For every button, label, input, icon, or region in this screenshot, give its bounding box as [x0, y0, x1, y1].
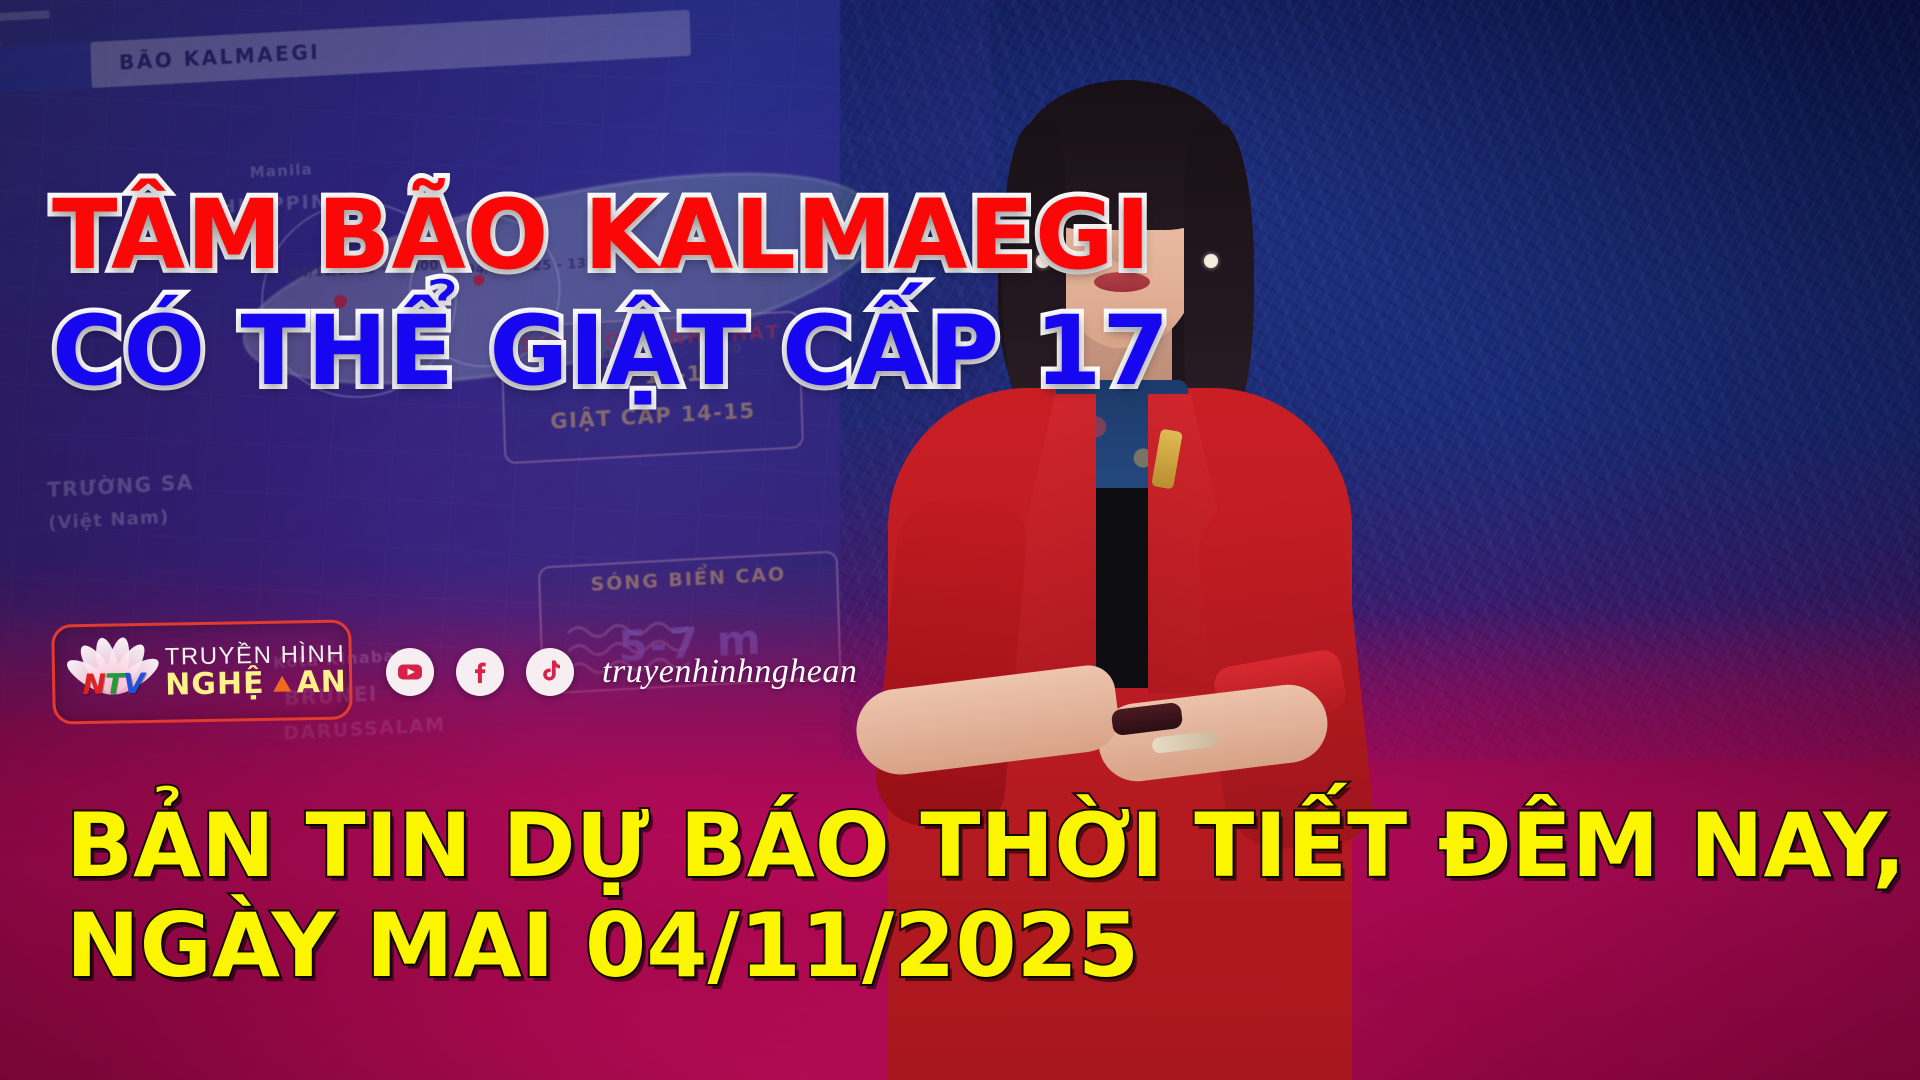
bottom-title-line-1: BẢN TIN DỰ BÁO THỜI TIẾT ĐÊM NAY, — [66, 796, 1826, 896]
tiktok-icon[interactable] — [526, 648, 574, 696]
presenter-earring-right — [1204, 254, 1218, 268]
ntv-letter-n: N — [82, 667, 105, 700]
logo-an-text: AN — [296, 666, 347, 698]
brand-bar: NTV TRUYỀN HÌNH NGHỆ AN — [52, 622, 857, 722]
ntv-letter-v: V — [123, 667, 144, 700]
facebook-icon[interactable] — [456, 648, 504, 696]
broadcast-thumbnail: BÃO KALMAEGI 04/11/2025 - 13h00 04/11/20… — [0, 0, 1920, 1080]
ntv-letter-t: T — [105, 667, 124, 700]
triangle-icon — [273, 675, 291, 691]
bottom-title-block: BẢN TIN DỰ BÁO THỜI TIẾT ĐÊM NAY, NGÀY M… — [66, 796, 1826, 997]
ntv-logo[interactable]: NTV TRUYỀN HÌNH NGHỆ AN — [51, 619, 353, 724]
youtube-icon[interactable] — [386, 648, 434, 696]
ntv-monogram: NTV — [75, 666, 152, 701]
headline-line-2: CÓ THỂ GIẬT CẤP 17 — [52, 304, 1072, 398]
social-icons-group: truyenhinhnghean — [386, 648, 857, 696]
headline-block: TÂM BÃO KALMAEGI CÓ THỂ GIẬT CẤP 17 — [52, 188, 1072, 398]
lotus-icon: NTV — [68, 630, 155, 717]
logo-line-2: NGHỆ AN — [165, 666, 347, 701]
social-handle[interactable]: truyenhinhnghean — [602, 653, 857, 691]
headline-line-1: TÂM BÃO KALMAEGI — [52, 188, 1072, 282]
logo-text-block: TRUYỀN HÌNH NGHỆ AN — [165, 641, 348, 701]
bottom-title-line-2: NGÀY MAI 04/11/2025 — [66, 896, 1826, 996]
logo-nghe-text: NGHỆ — [165, 668, 265, 701]
